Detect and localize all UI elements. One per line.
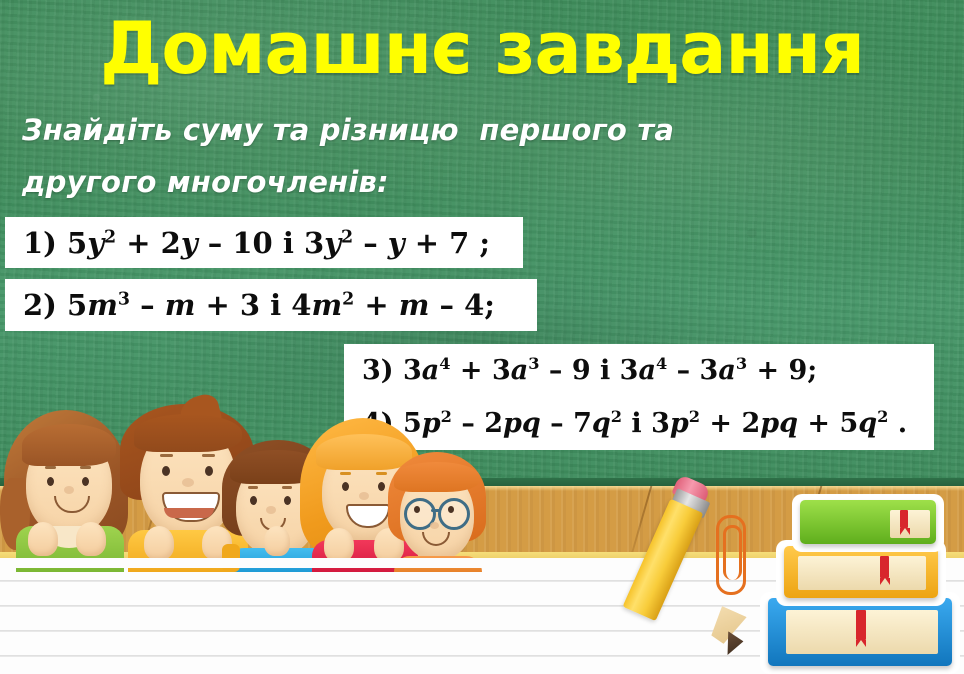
- book-yellow-pages: [798, 556, 926, 590]
- task-item-3: 3) 3a4 + 3a3 – 9 i 3a4 – 3a3 + 9;: [344, 344, 934, 397]
- hand-left: [324, 528, 354, 562]
- instruction-line-1: Знайдіть суму та різницю першого та: [22, 104, 902, 156]
- eyebrow-left: [340, 472, 351, 475]
- task-item-1: 1) 5y2 + 2y – 10 i 3y2 – y + 7 ;: [5, 217, 523, 268]
- homework-slide: Домашнє завдання Знайдіть суму та різниц…: [0, 0, 964, 674]
- page-title: Домашнє завдання: [14, 7, 949, 89]
- book-stack-icon: [760, 488, 964, 674]
- eyebrow-left: [248, 486, 258, 489]
- bookmark-green: [900, 510, 908, 528]
- eyebrow-left: [45, 466, 56, 469]
- nose: [64, 486, 74, 494]
- child-girl-brown-hair: [4, 404, 134, 572]
- glasses-right-lens: [438, 498, 470, 530]
- eye-right: [284, 496, 291, 505]
- bookmark-yellow: [880, 556, 889, 578]
- nose: [266, 506, 276, 514]
- hand-right: [76, 522, 106, 556]
- task-2-expression: 2) 5m3 – m + 3 i 4m2 + m – 4;: [5, 288, 495, 322]
- eye-left: [414, 506, 420, 513]
- glasses-bridge: [431, 509, 441, 512]
- task-1-expression: 1) 5y2 + 2y – 10 i 3y2 – y + 7 ;: [5, 226, 490, 260]
- eye-right: [378, 482, 385, 491]
- hand-left: [28, 522, 58, 556]
- children-illustration: [0, 404, 470, 572]
- nose: [182, 478, 194, 487]
- eyebrow-right: [282, 486, 292, 489]
- paperclip-inner-loop: [723, 525, 742, 580]
- nose: [359, 492, 369, 500]
- eyebrow-right: [202, 454, 215, 457]
- eye-right: [448, 506, 454, 513]
- task-item-2: 2) 5m3 – m + 3 i 4m2 + m – 4;: [5, 279, 537, 331]
- eye-right: [82, 477, 89, 486]
- task-3-expression: 3) 3a4 + 3a3 – 9 i 3a4 – 3a3 + 9;: [362, 355, 817, 386]
- eye-left: [250, 496, 257, 505]
- eye-left: [342, 482, 349, 491]
- bangs: [394, 462, 480, 492]
- eye-left: [162, 466, 170, 476]
- eyebrow-right: [376, 472, 387, 475]
- paperclip-icon: [712, 515, 746, 593]
- eye-left: [47, 477, 54, 486]
- bangs: [22, 424, 116, 466]
- mouth-lower-lip: [164, 508, 214, 518]
- eyebrow-left: [160, 454, 173, 457]
- eye-right: [205, 466, 213, 476]
- hand-at-chin: [264, 526, 290, 556]
- instruction-text: Знайдіть суму та різницю першого та друг…: [22, 104, 902, 208]
- bookmark-blue: [856, 610, 866, 640]
- hand-left: [144, 526, 174, 560]
- eyebrow-right: [80, 466, 91, 469]
- book-green-pages: [890, 510, 930, 538]
- child-boy-glasses: [388, 444, 488, 572]
- nose: [430, 522, 439, 529]
- instruction-line-2: другого многочленів:: [22, 156, 902, 208]
